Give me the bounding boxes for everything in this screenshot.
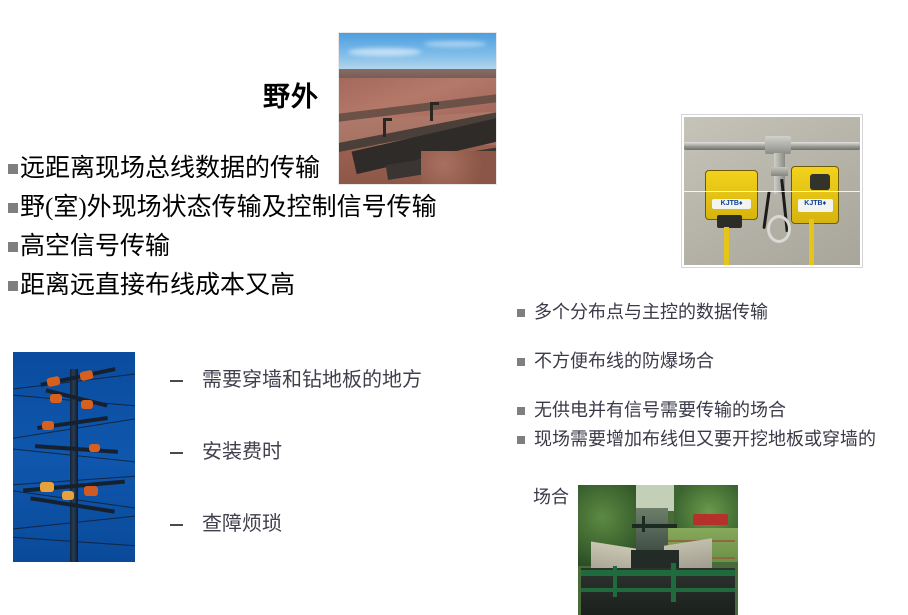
canal-lock-photo xyxy=(578,485,738,615)
cloud-shape xyxy=(424,41,487,47)
insulator xyxy=(62,491,74,500)
dash-item-text: 安装费时 xyxy=(202,438,282,466)
dash-item-text: 需要穿墙和钻地板的地方 xyxy=(202,366,422,394)
bullet-text: 现场需要增加布线但又要开挖地板或穿墙的 xyxy=(534,427,876,452)
list-item: 需要穿墙和钻地板的地方 xyxy=(170,366,470,394)
insulator xyxy=(50,394,62,403)
bullet-text-wrapped-tail: 场合 xyxy=(533,485,569,510)
detector-brand-label: KJTB♦ xyxy=(798,199,833,211)
list-item: 现场需要增加布线但又要开挖地板或穿墙的 xyxy=(517,427,908,452)
gate-railing xyxy=(613,566,617,597)
insulator xyxy=(84,486,98,496)
gas-detectors-photo: KJTB♦ KJTB♦ xyxy=(682,115,862,267)
marker-post xyxy=(430,102,433,120)
list-item: 多个分布点与主控的数据传输 xyxy=(517,300,908,325)
list-item: 无供电并有信号需要传输的场合 xyxy=(517,398,908,423)
right-bullet-list: 多个分布点与主控的数据传输 不方便布线的防爆场合 无供电并有信号需要传输的场合 … xyxy=(517,300,908,452)
list-item: 查障烦琐 xyxy=(170,510,470,538)
cloud-shape xyxy=(348,48,420,56)
gate-balance-beam xyxy=(581,588,735,592)
list-item: 安装费时 xyxy=(170,438,470,466)
far-lock-gate xyxy=(632,524,677,528)
highlight-line xyxy=(684,191,860,192)
list-item: 距离远直接布线成本又高 xyxy=(8,269,528,302)
insulator xyxy=(40,482,54,492)
cable-loop xyxy=(767,215,791,243)
square-bullet-icon xyxy=(517,358,525,366)
bullet-text: 野(室)外现场状态传输及控制信号传输 xyxy=(20,191,437,224)
canal-water xyxy=(636,508,668,555)
dash-sub-list: 需要穿墙和钻地板的地方 安装费时 查障烦琐 xyxy=(170,366,470,582)
square-bullet-icon xyxy=(8,203,18,213)
gate-balance-beam xyxy=(581,570,735,576)
list-item: 不方便布线的防爆场合 xyxy=(517,349,908,374)
insulator xyxy=(42,421,54,430)
detector-device-left: KJTB♦ xyxy=(705,170,758,219)
list-item: 高空信号传输 xyxy=(8,230,528,263)
square-bullet-icon xyxy=(517,436,525,444)
gate-railing xyxy=(671,563,676,602)
sky-region xyxy=(636,485,678,511)
dash-bullet-icon xyxy=(170,452,183,454)
yellow-cable xyxy=(809,219,814,265)
square-bullet-icon xyxy=(8,281,18,291)
left-bullet-list: 远距离现场总线数据的传输 野(室)外现场状态传输及控制信号传输 高空信号传输 距… xyxy=(8,152,528,308)
square-bullet-icon xyxy=(8,164,18,174)
dash-item-text: 查障烦琐 xyxy=(202,510,282,538)
dash-bullet-icon xyxy=(170,380,183,382)
list-item: 野(室)外现场状态传输及控制信号传输 xyxy=(8,191,528,224)
bullet-text: 不方便布线的防爆场合 xyxy=(534,349,714,374)
list-item: 远距离现场总线数据的传输 xyxy=(8,152,528,185)
bullet-text: 高空信号传输 xyxy=(20,230,170,263)
utility-pole-photo xyxy=(13,352,135,562)
detector-device-right: KJTB♦ xyxy=(791,166,839,224)
square-bullet-icon xyxy=(8,242,18,252)
dash-bullet-icon xyxy=(170,524,183,526)
bullet-text: 无供电并有信号需要传输的场合 xyxy=(534,398,786,423)
square-bullet-icon xyxy=(517,309,525,317)
page-title: 野外 xyxy=(263,82,319,113)
yellow-cable xyxy=(724,227,729,265)
square-bullet-icon xyxy=(517,407,525,415)
insulator xyxy=(81,400,93,409)
insulator xyxy=(89,444,100,452)
marker-post xyxy=(383,118,386,138)
detector-brand-label: KJTB♦ xyxy=(712,199,751,209)
bullet-text: 多个分布点与主控的数据传输 xyxy=(534,300,768,325)
bullet-text: 距离远直接布线成本又高 xyxy=(20,269,295,302)
display-window xyxy=(810,174,830,191)
bullet-text: 远距离现场总线数据的传输 xyxy=(20,152,320,185)
presentation-slide: 野外 KJTB♦ KJTB♦ xyxy=(0,0,908,615)
cable-gland xyxy=(717,215,742,228)
red-vehicle xyxy=(693,514,728,526)
